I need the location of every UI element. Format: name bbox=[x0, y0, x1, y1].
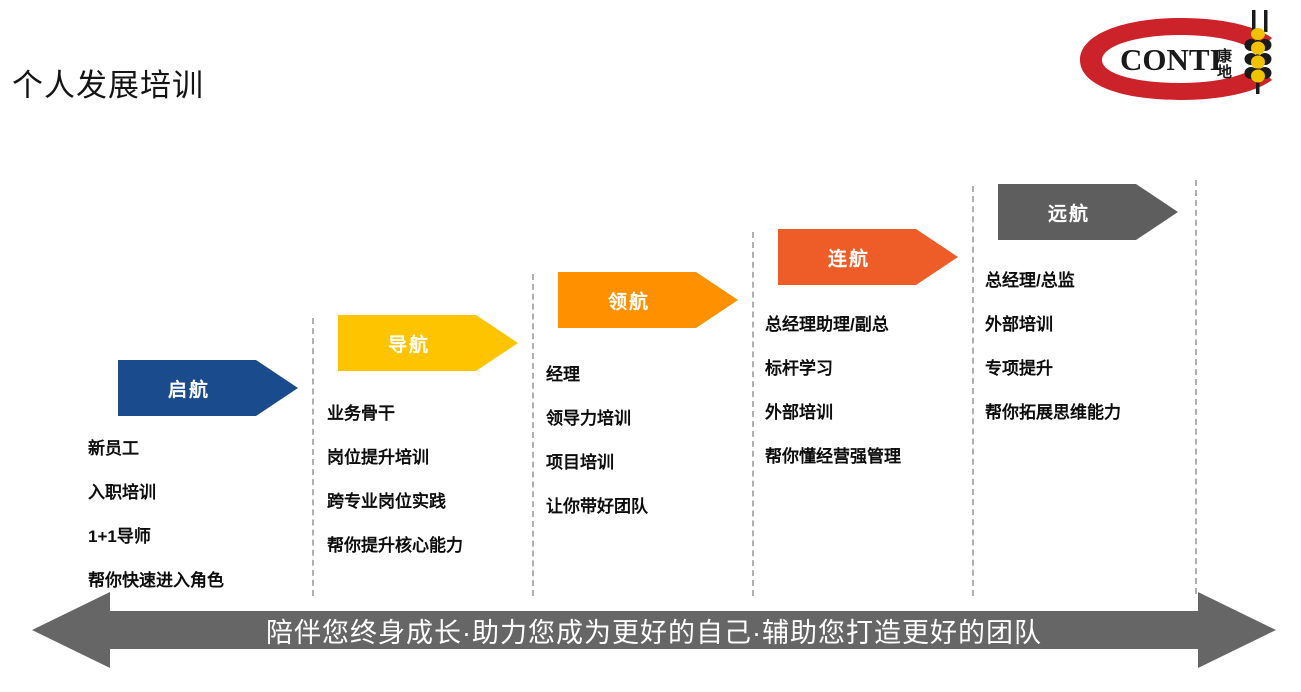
stage-banner-5[interactable]: 远航 bbox=[998, 184, 1178, 240]
stage-label-3: 领航 bbox=[608, 287, 650, 314]
list-item: 跨专业岗位实践 bbox=[327, 493, 463, 510]
list-item: 专项提升 bbox=[985, 360, 1121, 377]
slide-canvas: 个人发展培训 CONTI 康 地 bbox=[0, 0, 1301, 692]
list-item: 标杆学习 bbox=[765, 360, 901, 377]
list-item: 经理 bbox=[546, 366, 648, 383]
stage-banner-2[interactable]: 导航 bbox=[338, 315, 518, 371]
column-divider-1 bbox=[312, 318, 314, 596]
stage-label-4: 连航 bbox=[828, 244, 870, 271]
logo-graphic: CONTI 康 地 bbox=[1072, 4, 1290, 104]
logo-cn-char-1: 康 bbox=[1217, 47, 1233, 65]
list-item: 外部培训 bbox=[985, 316, 1121, 333]
list-item: 项目培训 bbox=[546, 454, 648, 471]
list-item: 帮你拓展思维能力 bbox=[985, 404, 1121, 421]
list-item: 总经理助理/副总 bbox=[765, 316, 901, 333]
page-title: 个人发展培训 bbox=[12, 60, 204, 105]
bottom-banner-caption: 陪伴您终身成长·助力您成为更好的自己·辅助您打造更好的团队 bbox=[32, 592, 1276, 668]
list-item: 帮你懂经营强管理 bbox=[765, 448, 901, 465]
list-item: 业务骨干 bbox=[327, 405, 463, 422]
list-item: 领导力培训 bbox=[546, 410, 648, 427]
list-item: 岗位提升培训 bbox=[327, 449, 463, 466]
stage-label-1: 启航 bbox=[168, 375, 210, 402]
conti-logo: CONTI 康 地 bbox=[1072, 4, 1290, 104]
stage-items-5: 总经理/总监 外部培训 专项提升 帮你拓展思维能力 bbox=[985, 272, 1121, 421]
stage-items-2: 业务骨干 岗位提升培训 跨专业岗位实践 帮你提升核心能力 bbox=[327, 405, 463, 554]
stage-banner-1[interactable]: 启航 bbox=[118, 360, 298, 416]
list-item: 新员工 bbox=[88, 440, 224, 457]
stage-items-4: 总经理助理/副总 标杆学习 外部培训 帮你懂经营强管理 bbox=[765, 316, 901, 465]
stage-label-5: 远航 bbox=[1048, 199, 1090, 226]
list-item: 让你带好团队 bbox=[546, 498, 648, 515]
list-item: 帮你提升核心能力 bbox=[327, 537, 463, 554]
stage-items-1: 新员工 入职培训 1+1导师 帮你快速进入角色 bbox=[88, 440, 224, 589]
column-divider-4 bbox=[972, 186, 974, 596]
stage-banner-3[interactable]: 领航 bbox=[558, 272, 738, 328]
stage-label-2: 导航 bbox=[388, 330, 430, 357]
list-item: 总经理/总监 bbox=[985, 272, 1121, 289]
list-item: 入职培训 bbox=[88, 484, 224, 501]
stage-items-3: 经理 领导力培训 项目培训 让你带好团队 bbox=[546, 366, 648, 515]
column-divider-5 bbox=[1195, 180, 1197, 594]
column-divider-3 bbox=[752, 232, 754, 596]
stage-banner-4[interactable]: 连航 bbox=[778, 229, 958, 285]
list-item: 外部培训 bbox=[765, 404, 901, 421]
bottom-banner-arrow: 陪伴您终身成长·助力您成为更好的自己·辅助您打造更好的团队 bbox=[32, 592, 1276, 668]
column-divider-2 bbox=[532, 274, 534, 596]
list-item: 帮你快速进入角色 bbox=[88, 572, 224, 589]
logo-wordmark: CONTI bbox=[1120, 42, 1222, 77]
logo-cn-char-2: 地 bbox=[1217, 63, 1232, 81]
list-item: 1+1导师 bbox=[88, 528, 224, 545]
